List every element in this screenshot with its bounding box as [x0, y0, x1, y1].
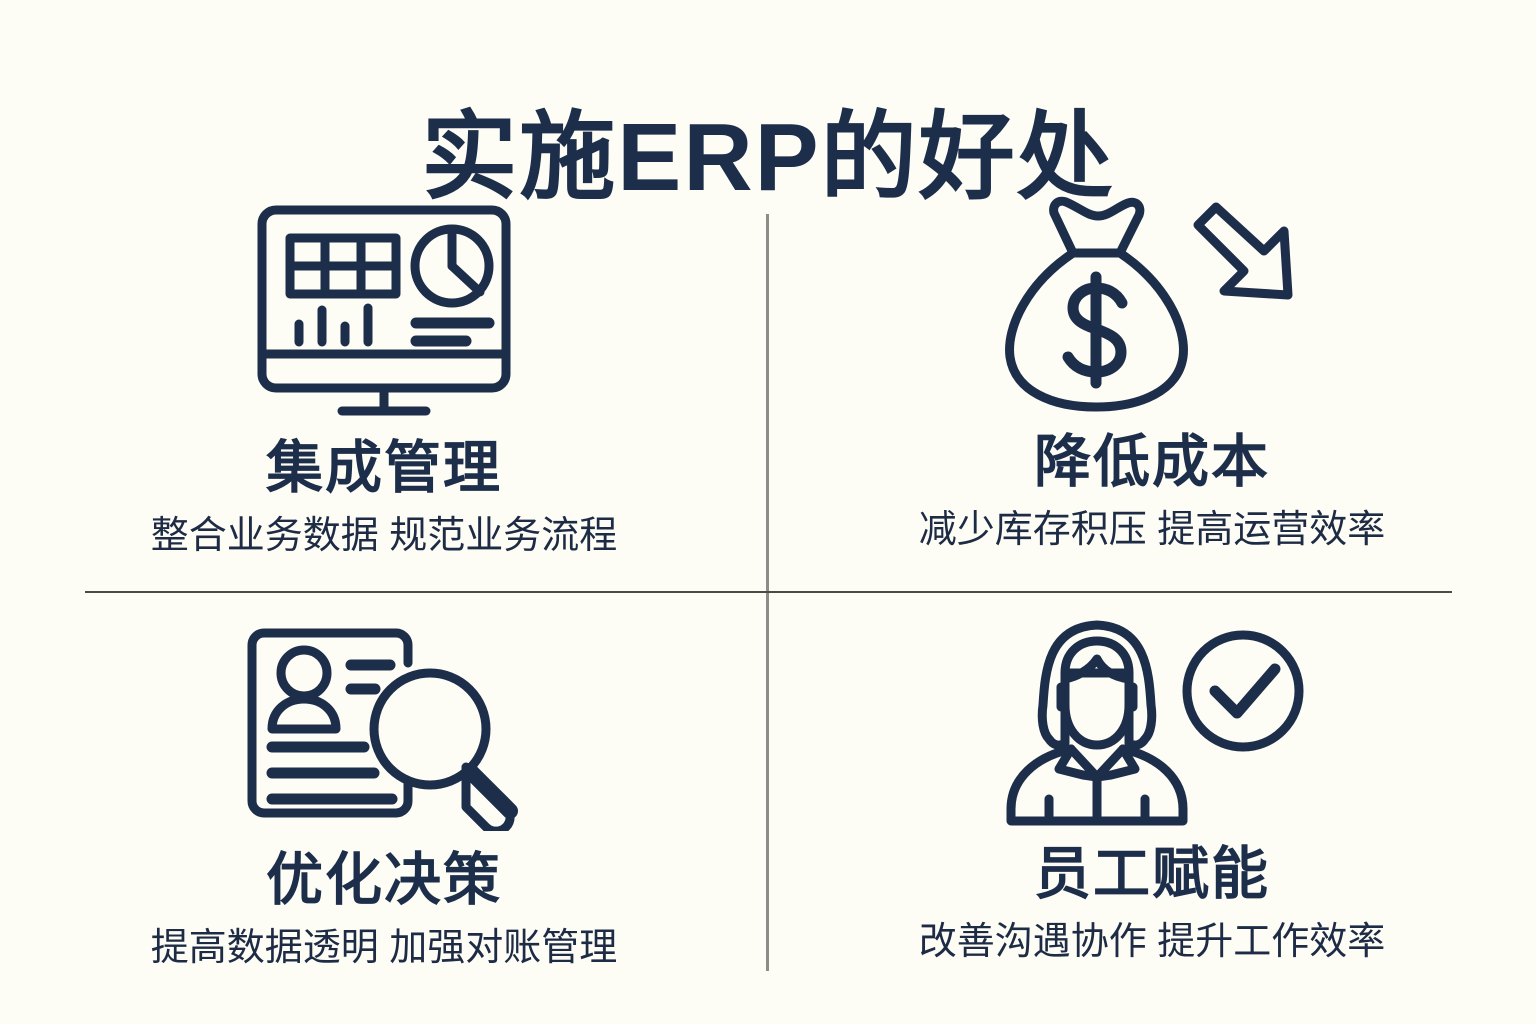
infographic-page: 实施ERP的好处	[0, 0, 1536, 1024]
benefit-title: 优化决策	[266, 848, 502, 914]
benefit-title: 集成管理	[266, 436, 502, 502]
benefit-subtitle: 减少库存积压 提高运营效率	[919, 508, 1386, 554]
benefits-grid: 集成管理 整合业务数据 规范业务流程 降低成本 减少库存积压 提高运营	[0, 0, 1536, 1024]
benefit-card-integrated-management: 集成管理 整合业务数据 规范业务流程	[0, 0, 768, 592]
money-bag-down-arrow-icon	[992, 190, 1312, 420]
benefit-card-cost-reduction: 降低成本 减少库存积压 提高运营效率	[768, 0, 1536, 592]
benefit-title: 员工赋能	[1034, 842, 1270, 908]
benefit-subtitle: 改善沟遇协作 提升工作效率	[919, 920, 1386, 966]
businesswoman-check-icon	[997, 606, 1307, 836]
benefit-card-optimized-decisions: 优化决策 提高数据透明 加强对账管理	[0, 592, 768, 1024]
document-profile-magnifier-icon	[234, 612, 534, 842]
benefit-title: 降低成本	[1034, 430, 1270, 496]
benefit-card-employee-empowerment: 员工赋能 改善沟遇协作 提升工作效率	[768, 592, 1536, 1024]
benefit-subtitle: 整合业务数据 规范业务流程	[151, 514, 618, 560]
monitor-dashboard-icon	[244, 196, 524, 426]
benefit-subtitle: 提高数据透明 加强对账管理	[151, 926, 618, 972]
